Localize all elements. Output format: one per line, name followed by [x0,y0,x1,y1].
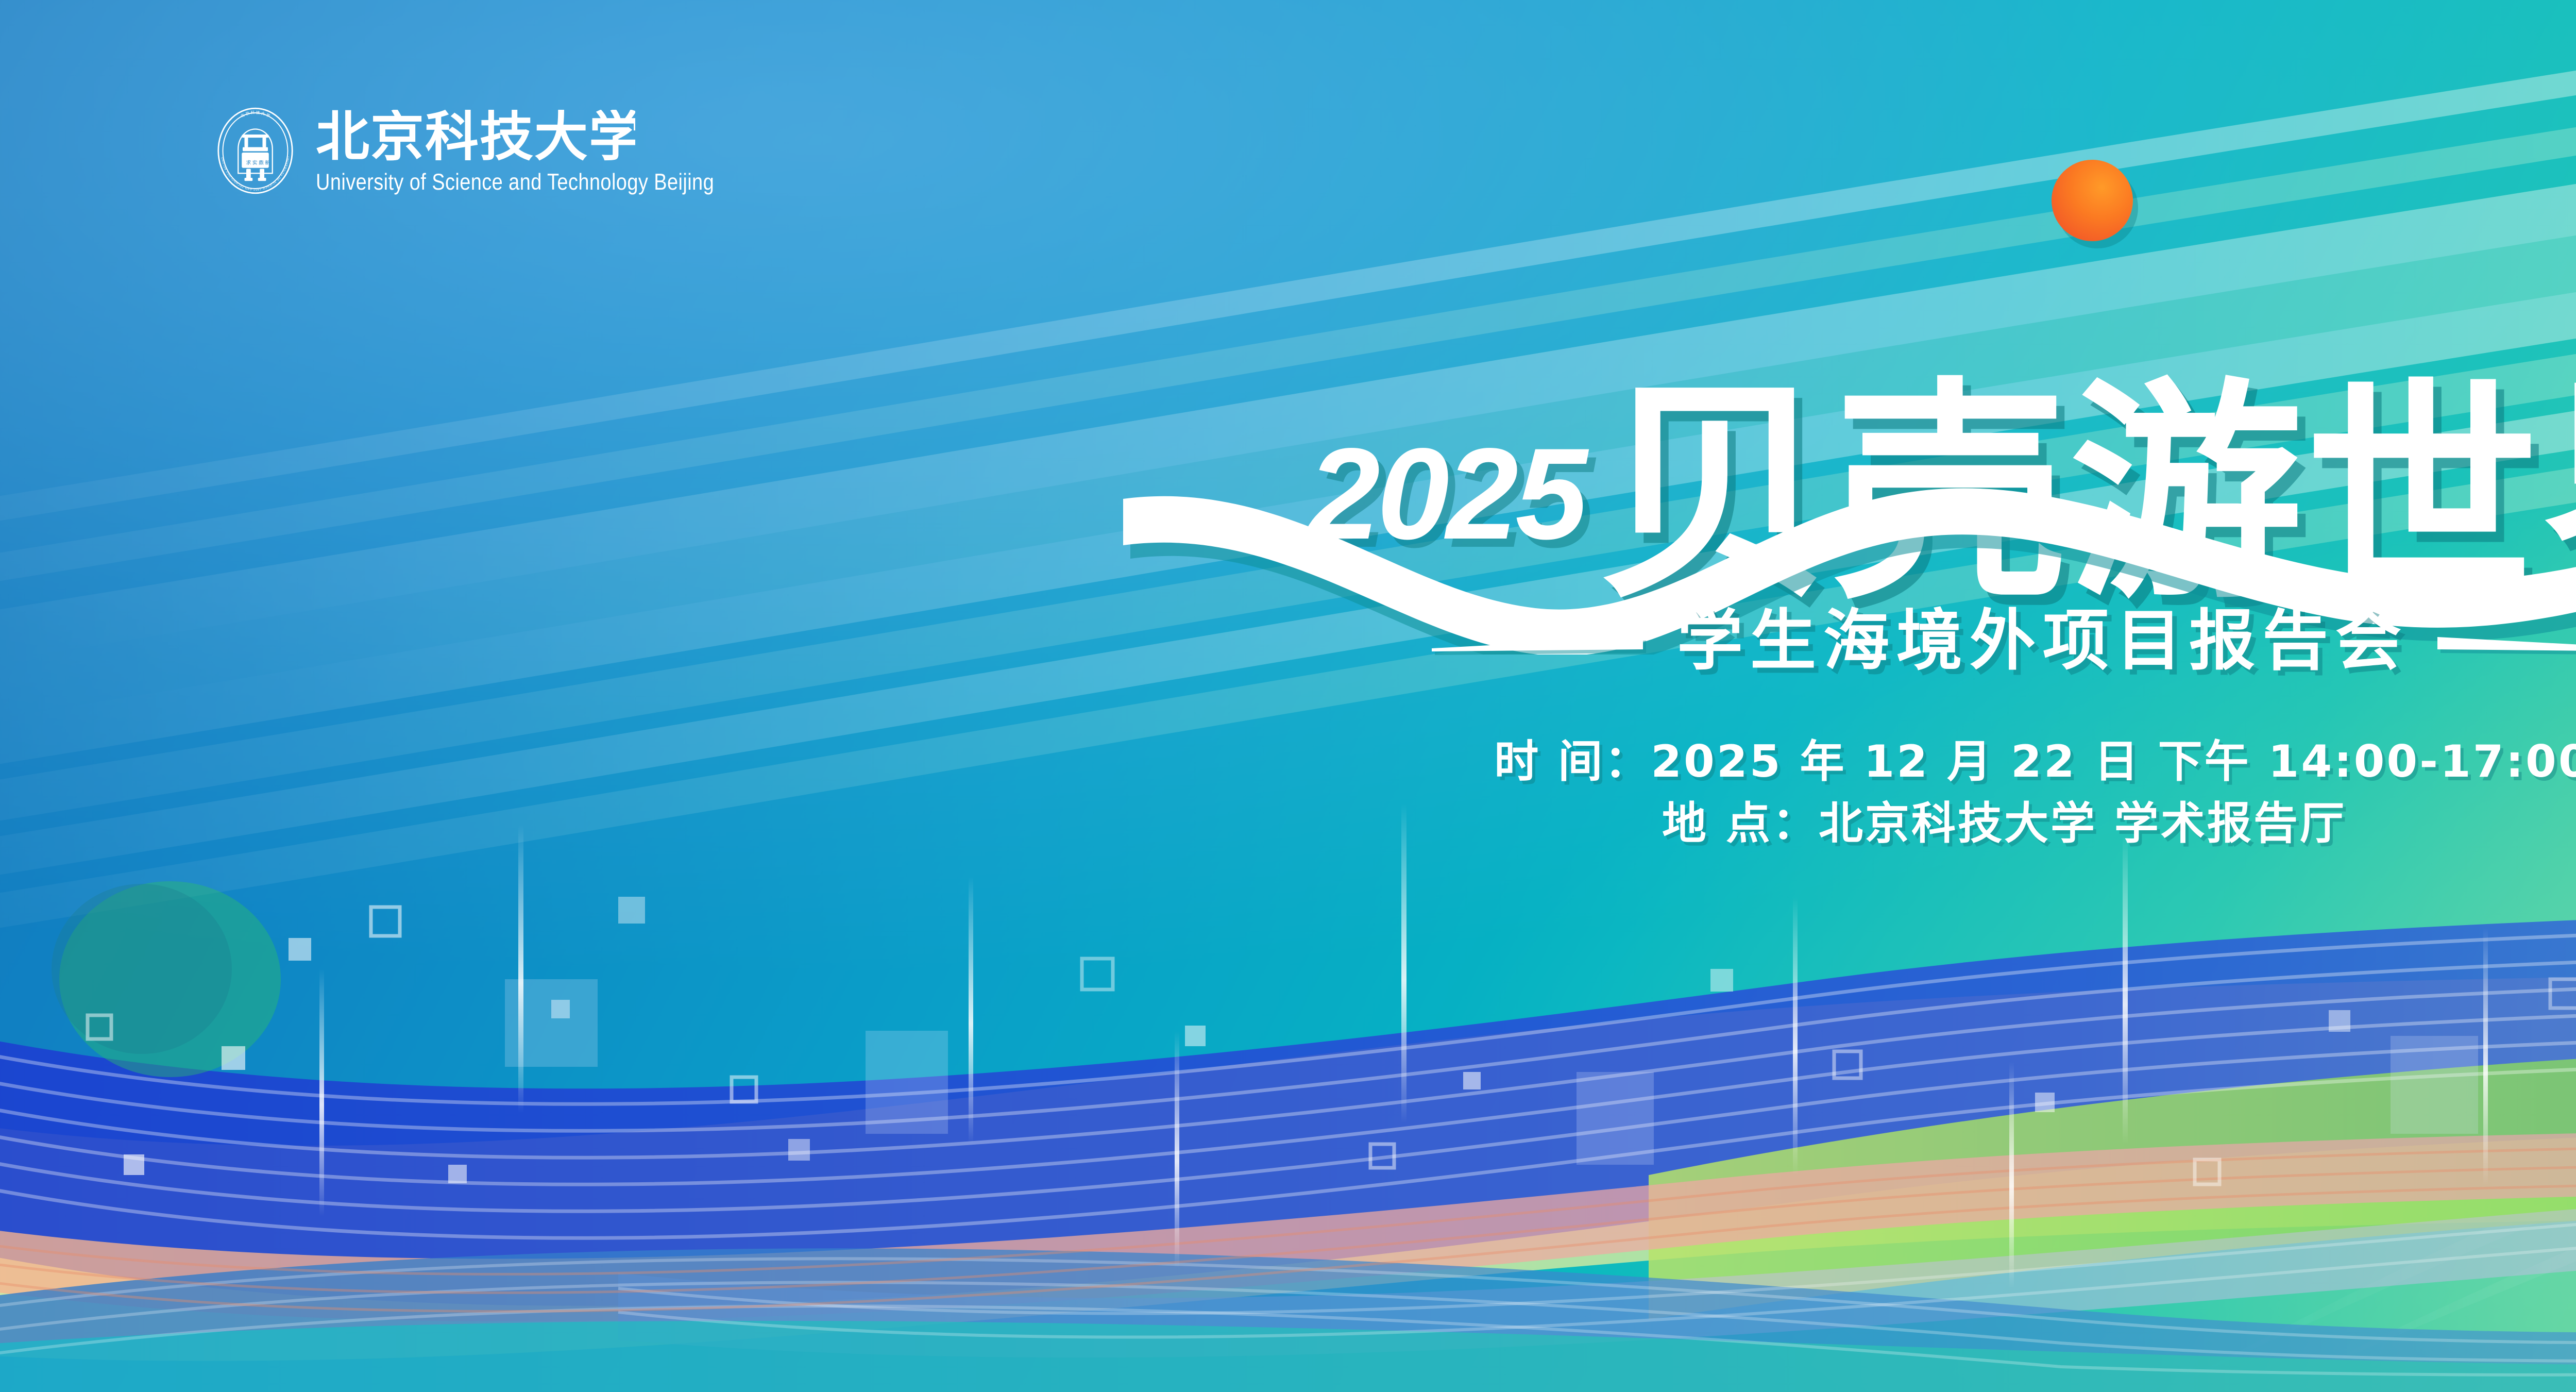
subtitle-row: 学生海境外项目报告会 [0,608,2576,674]
orange-sun-icon [2052,160,2133,241]
tapered-dash-right-icon [2437,626,2576,657]
event-time: 时 间：2025 年 12 月 22 日 下午 14:00-17:00 [1494,737,2576,786]
subtitle-text: 学生海境外项目报告会 [1677,608,2409,674]
event-banner: 求实鼎新 北 京 科 技 大 学 UNIVERSITY OF SCIENCE·1… [0,0,2576,1392]
event-info: 时 间：2025 年 12 月 22 日 下午 14:00-17:00 地 点：… [0,737,2576,849]
tapered-dash-left-icon [1432,626,1648,657]
event-location: 地 点：北京科技大学 学术报告厅 [1662,799,2346,848]
